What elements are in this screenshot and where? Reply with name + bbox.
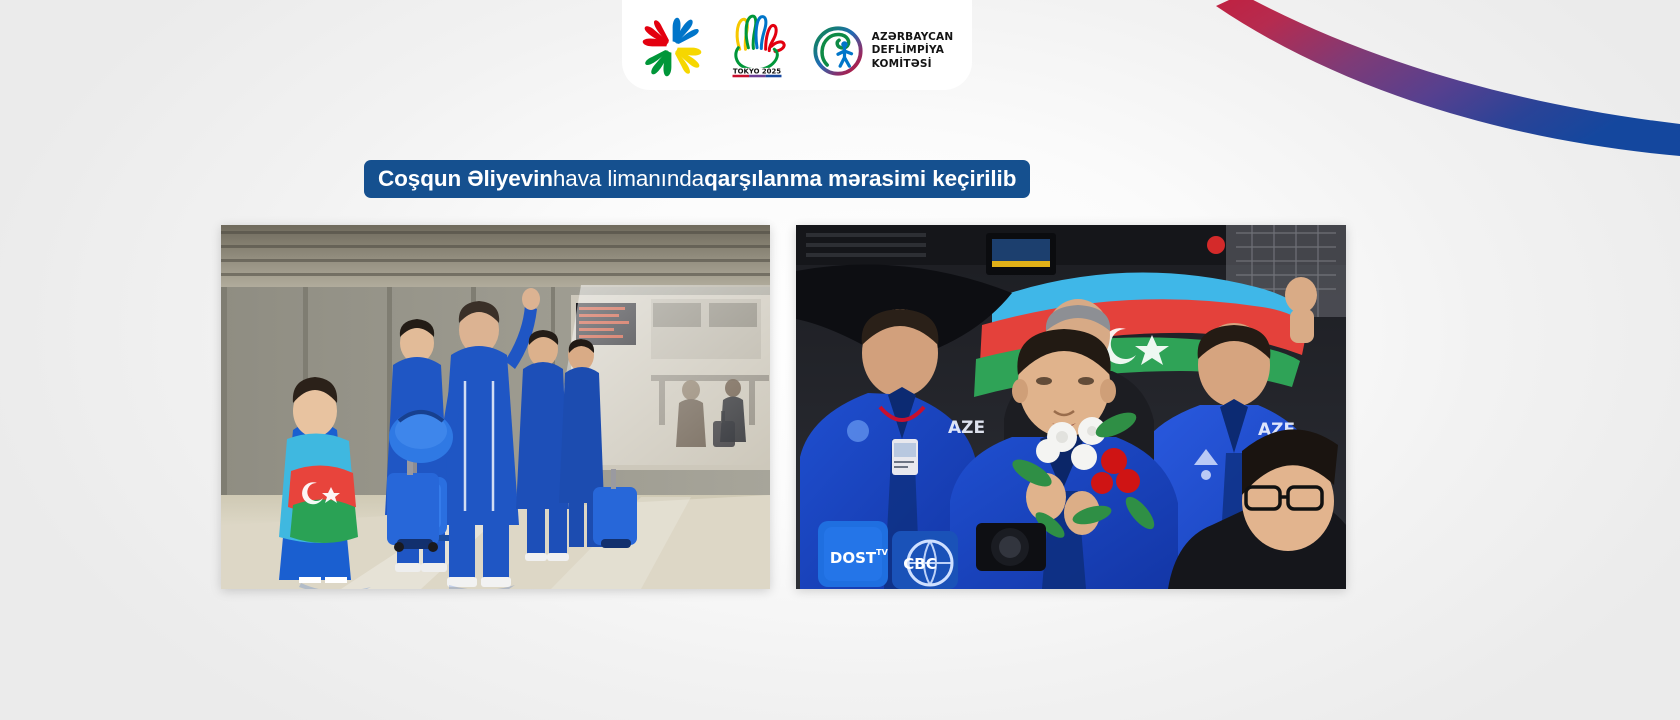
photo-airport-arrival (221, 225, 770, 589)
tokyo-2025-logo: TOKYO 2025 (721, 6, 793, 78)
svg-text:TOKYO 2025: TOKYO 2025 (733, 67, 781, 75)
adk-text-line-1: AZƏRBAYCAN (872, 31, 954, 44)
mic-label-cbc: CBC (903, 555, 936, 573)
headline-banner: Coşqun Əliyevin hava limanında qarşılanm… (364, 160, 1030, 198)
svg-text:AZE: AZE (948, 418, 985, 438)
photo-press-welcome-image: AZE AZE (796, 225, 1346, 589)
adk-logo-text: AZƏRBAYCAN DEFLİMPİYA KOMİTƏSİ (872, 31, 954, 71)
svg-text:TV: TV (876, 548, 888, 557)
tokyo-2025-hand-icon: TOKYO 2025 (721, 6, 793, 78)
swoosh-decoration (1210, 0, 1680, 180)
gradient-swoosh-icon (1210, 0, 1680, 180)
photo-airport-arrival-image (221, 225, 770, 589)
headline-regular-part: hava limanında (553, 166, 704, 192)
deaflympics-logo (641, 16, 703, 78)
azerbaijan-deaflympic-committee-logo: AZƏRBAYCAN DEFLİMPİYA KOMİTƏSİ (811, 24, 954, 78)
photo-press-welcome: AZE AZE (796, 225, 1346, 589)
deaflympics-pinwheel-icon (641, 16, 703, 78)
headline-bold-part-1: Coşqun Əliyevin (378, 166, 553, 192)
adk-text-line-3: KOMİTƏSİ (872, 58, 954, 71)
mic-label-dost: DOST (830, 549, 877, 567)
adk-text-line-2: DEFLİMPİYA (872, 44, 954, 57)
adk-emblem-icon (811, 24, 865, 78)
headline-bold-part-2: qarşılanma mərasimi keçirilib (704, 166, 1016, 192)
logo-card: TOKYO 2025 AZƏRBAYCAN (622, 0, 972, 90)
